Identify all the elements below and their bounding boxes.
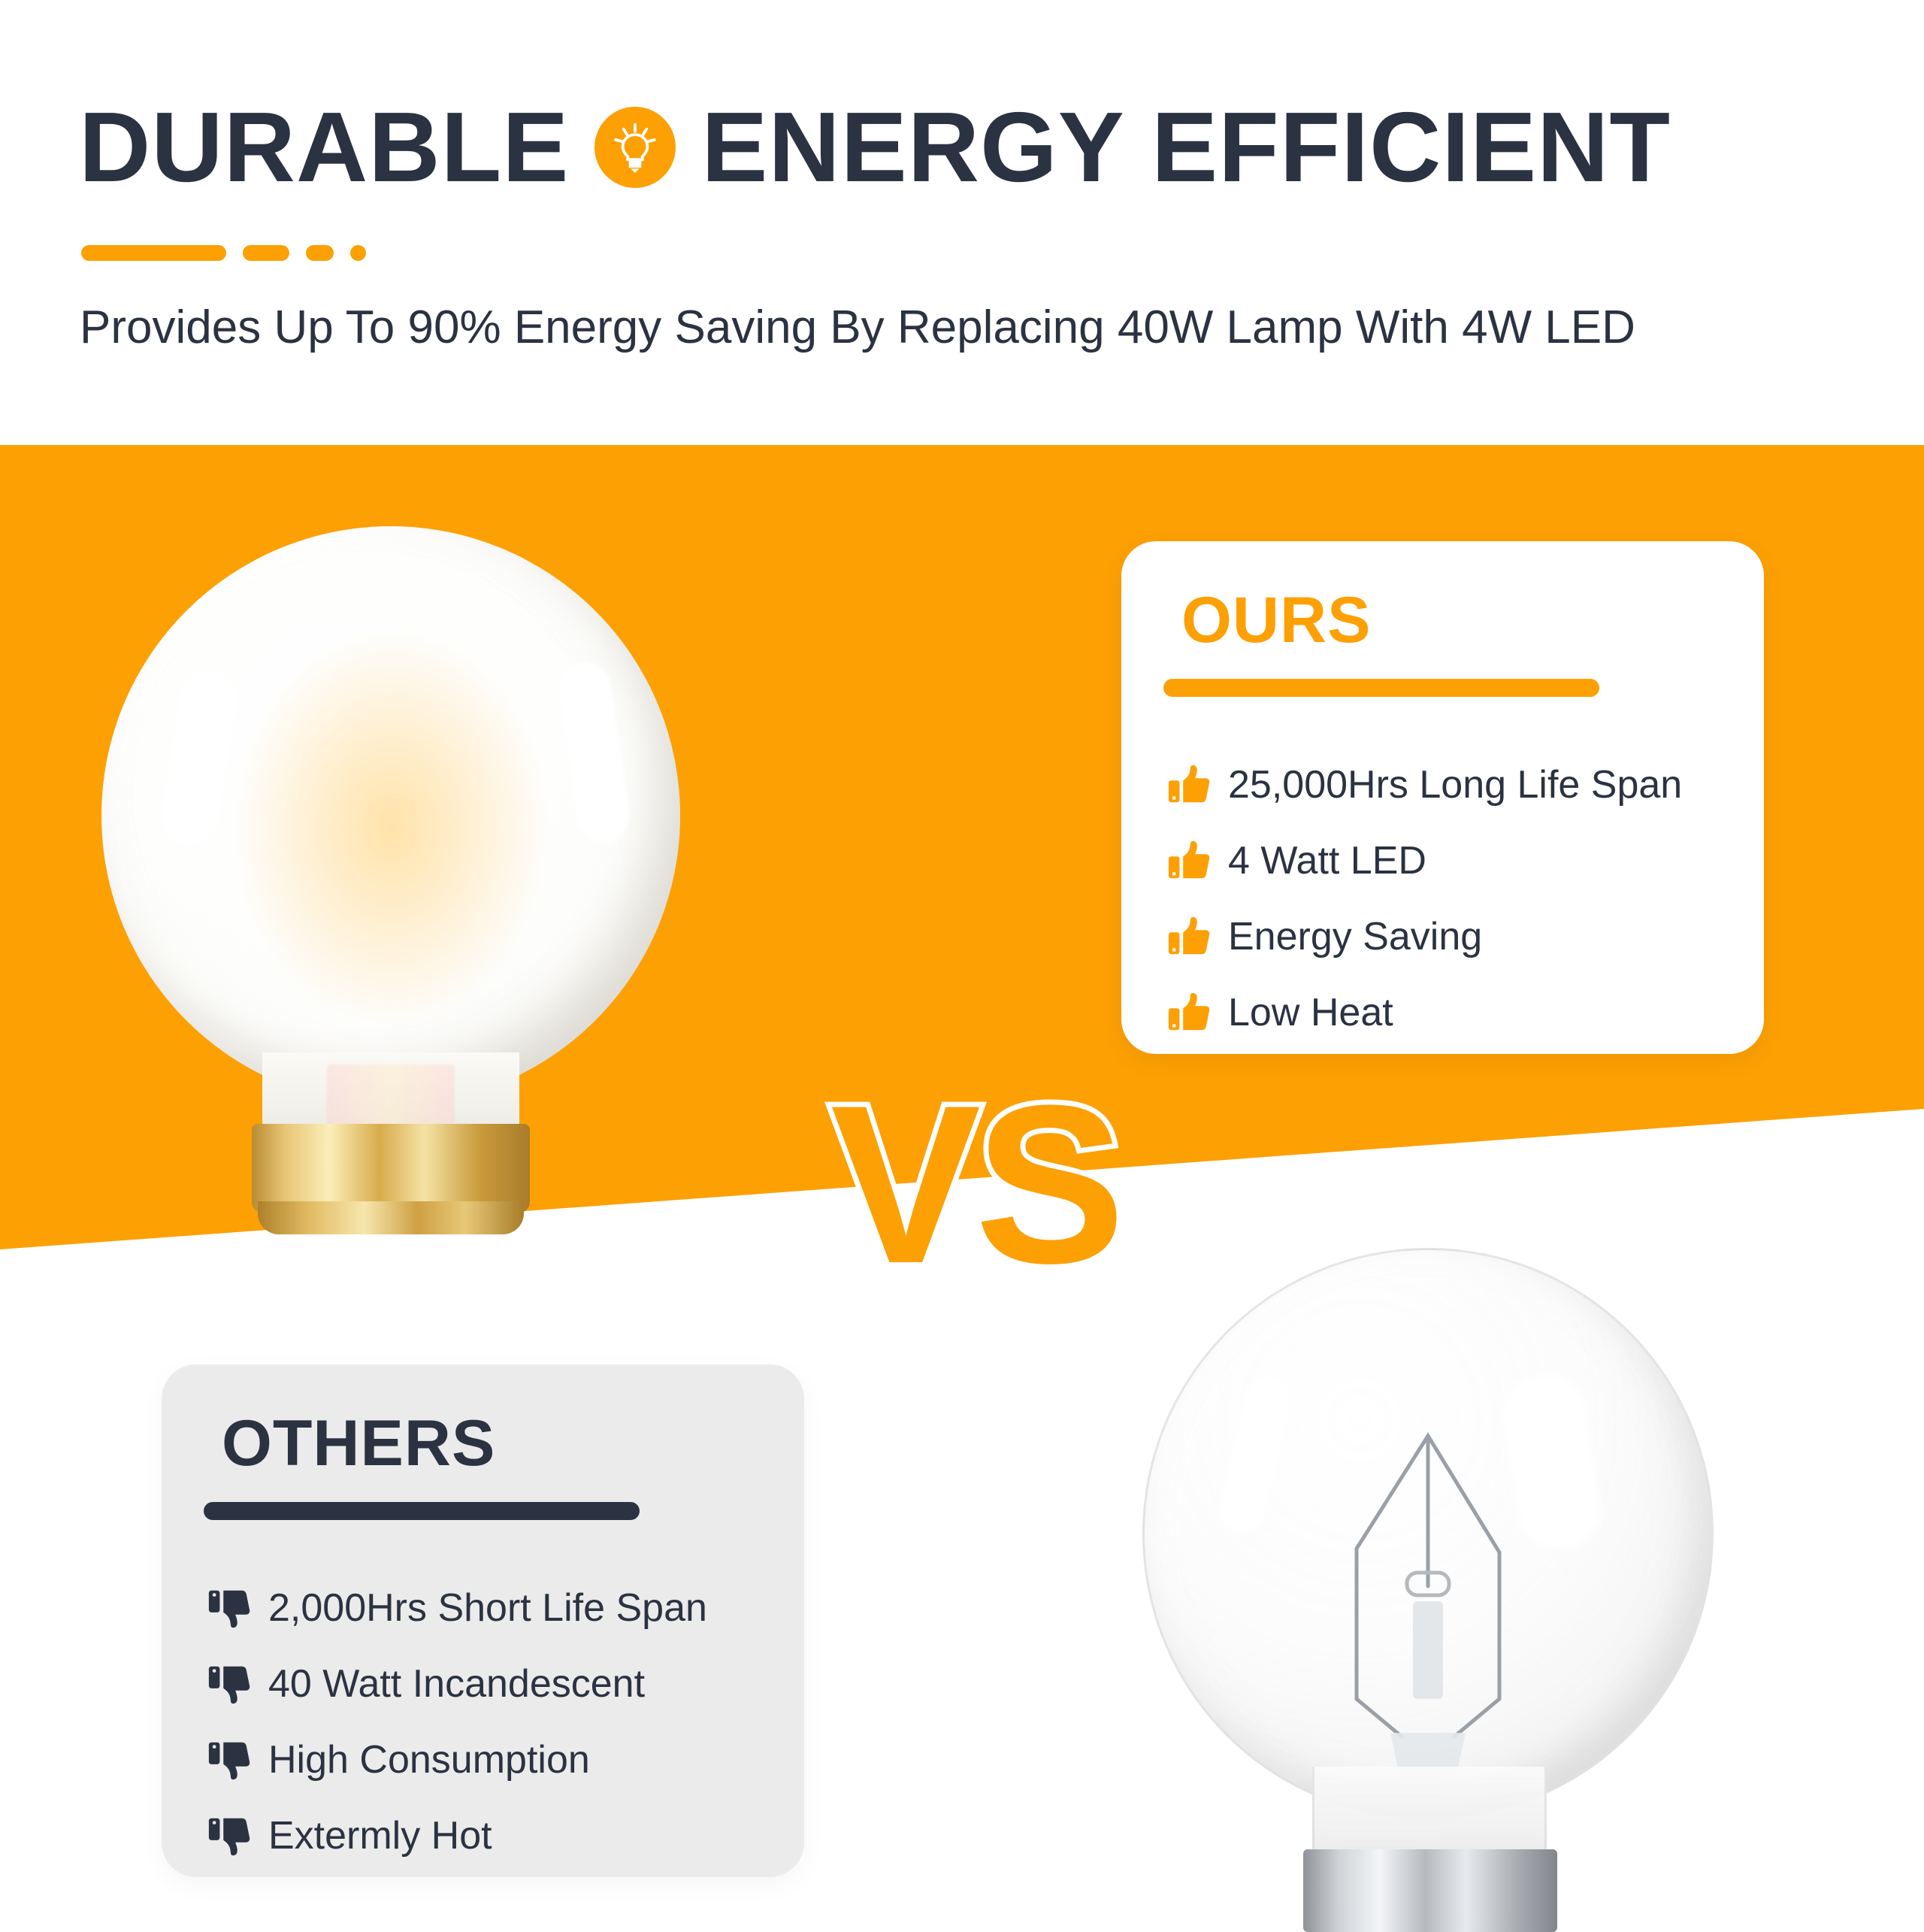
others-card: OTHERS 2,000Hrs Short Life Span bbox=[162, 1364, 804, 1877]
ours-feature-list: 25,000Hrs Long Life Span 4 Watt LED bbox=[1160, 752, 1747, 1055]
list-item-label: Extermly Hot bbox=[268, 1816, 492, 1855]
dash-2 bbox=[243, 245, 289, 261]
list-item: 40 Watt Incandescent bbox=[201, 1651, 787, 1717]
list-item-label: 40 Watt Incandescent bbox=[268, 1664, 645, 1703]
title-word-energy-efficient: ENERGY EFFICIENT bbox=[701, 98, 1671, 197]
versus-label: VS bbox=[830, 1071, 1119, 1297]
list-item-label: High Consumption bbox=[268, 1740, 590, 1779]
list-item: 25,000Hrs Long Life Span bbox=[1160, 752, 1747, 818]
list-item-label: 25,000Hrs Long Life Span bbox=[1228, 765, 1682, 804]
thumbs-up-icon bbox=[1160, 913, 1218, 960]
incandescent-chrome-base bbox=[1303, 1849, 1557, 1932]
header-section: DURABLE ENERGY EFFICIENT Provides Up bbox=[0, 0, 1924, 445]
thumbs-down-icon bbox=[201, 1661, 258, 1707]
list-item: 4 Watt LED bbox=[1160, 828, 1747, 894]
page-subtitle: Provides Up To 90% Energy Saving By Repl… bbox=[80, 301, 1635, 354]
thumbs-up-icon bbox=[1160, 837, 1218, 884]
list-item-label: Energy Saving bbox=[1228, 917, 1482, 956]
title-word-durable: DURABLE bbox=[79, 98, 569, 197]
list-item: High Consumption bbox=[201, 1727, 787, 1793]
thumbs-down-icon bbox=[201, 1585, 258, 1631]
page-title: DURABLE ENERGY EFFICIENT bbox=[79, 98, 1671, 197]
ours-card: OURS 25,000Hrs Long Life Span 4 Wa bbox=[1121, 541, 1764, 1054]
list-item-label: 2,000Hrs Short Life Span bbox=[268, 1588, 707, 1628]
incandescent-bulb-image bbox=[1142, 1248, 1804, 1924]
led-brass-ring bbox=[258, 1201, 524, 1234]
dash-3 bbox=[306, 245, 334, 261]
list-item-label: 4 Watt LED bbox=[1228, 841, 1426, 880]
list-item-label: Low Heat bbox=[1228, 993, 1393, 1032]
others-feature-list: 2,000Hrs Short Life Span 40 Watt Incande… bbox=[201, 1575, 787, 1879]
dash-1 bbox=[81, 245, 226, 261]
led-bulb-image bbox=[101, 526, 763, 1240]
list-item: Energy Saving bbox=[1160, 904, 1747, 970]
list-item: Extermly Hot bbox=[201, 1803, 787, 1869]
dash-4 bbox=[350, 245, 366, 261]
thumbs-down-icon bbox=[201, 1737, 258, 1783]
led-brass-base bbox=[252, 1124, 530, 1213]
lightbulb-icon bbox=[594, 107, 676, 188]
thumbs-up-icon bbox=[1160, 762, 1218, 808]
thumbs-up-icon bbox=[1160, 989, 1218, 1036]
list-item: 2,000Hrs Short Life Span bbox=[201, 1575, 787, 1641]
list-item: Low Heat bbox=[1160, 980, 1747, 1046]
thumbs-down-icon bbox=[201, 1812, 258, 1859]
others-heading: OTHERS bbox=[222, 1411, 495, 1476]
ours-heading: OURS bbox=[1181, 588, 1371, 653]
others-heading-rule bbox=[204, 1502, 640, 1520]
ours-heading-rule bbox=[1163, 679, 1599, 697]
title-underline-dashes bbox=[81, 245, 366, 261]
